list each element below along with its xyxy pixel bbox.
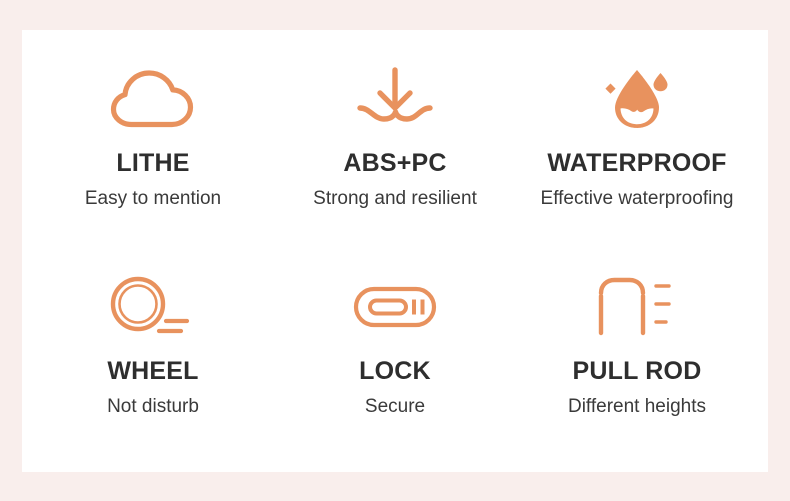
feature-title: PULL ROD bbox=[573, 358, 702, 386]
feature-grid: LITHE Easy to mention ABS+PC Strong and … bbox=[22, 30, 768, 472]
feature-title: ABS+PC bbox=[343, 150, 446, 178]
feature-title: WATERPROOF bbox=[547, 150, 726, 178]
feature-cell-pull-rod: PULL ROD Different heights bbox=[516, 246, 758, 456]
feature-title: WHEEL bbox=[107, 358, 198, 386]
feature-subtitle: Secure bbox=[365, 396, 425, 419]
feature-subtitle: Effective waterproofing bbox=[541, 188, 734, 211]
feature-subtitle: Different heights bbox=[568, 396, 706, 419]
feature-subtitle: Strong and resilient bbox=[313, 188, 477, 211]
feature-subtitle: Easy to mention bbox=[85, 188, 221, 211]
feature-title: LITHE bbox=[116, 150, 189, 178]
arrow-down-resilient-icon bbox=[354, 62, 436, 136]
feature-cell-abs-pc: ABS+PC Strong and resilient bbox=[274, 36, 516, 246]
pull-rod-icon bbox=[598, 270, 676, 344]
feature-panel: LITHE Easy to mention ABS+PC Strong and … bbox=[22, 30, 768, 472]
feature-cell-waterproof: WATERPROOF Effective waterproofing bbox=[516, 36, 758, 246]
water-droplet-icon bbox=[603, 62, 671, 136]
lock-icon bbox=[353, 270, 437, 344]
feature-cell-wheel: WHEEL Not disturb bbox=[32, 246, 274, 456]
wheel-icon bbox=[107, 270, 199, 344]
feature-cell-lock: LOCK Secure bbox=[274, 246, 516, 456]
feature-cell-lithe: LITHE Easy to mention bbox=[32, 36, 274, 246]
feature-title: LOCK bbox=[359, 358, 431, 386]
feature-subtitle: Not disturb bbox=[107, 396, 199, 419]
cloud-icon bbox=[110, 62, 196, 136]
